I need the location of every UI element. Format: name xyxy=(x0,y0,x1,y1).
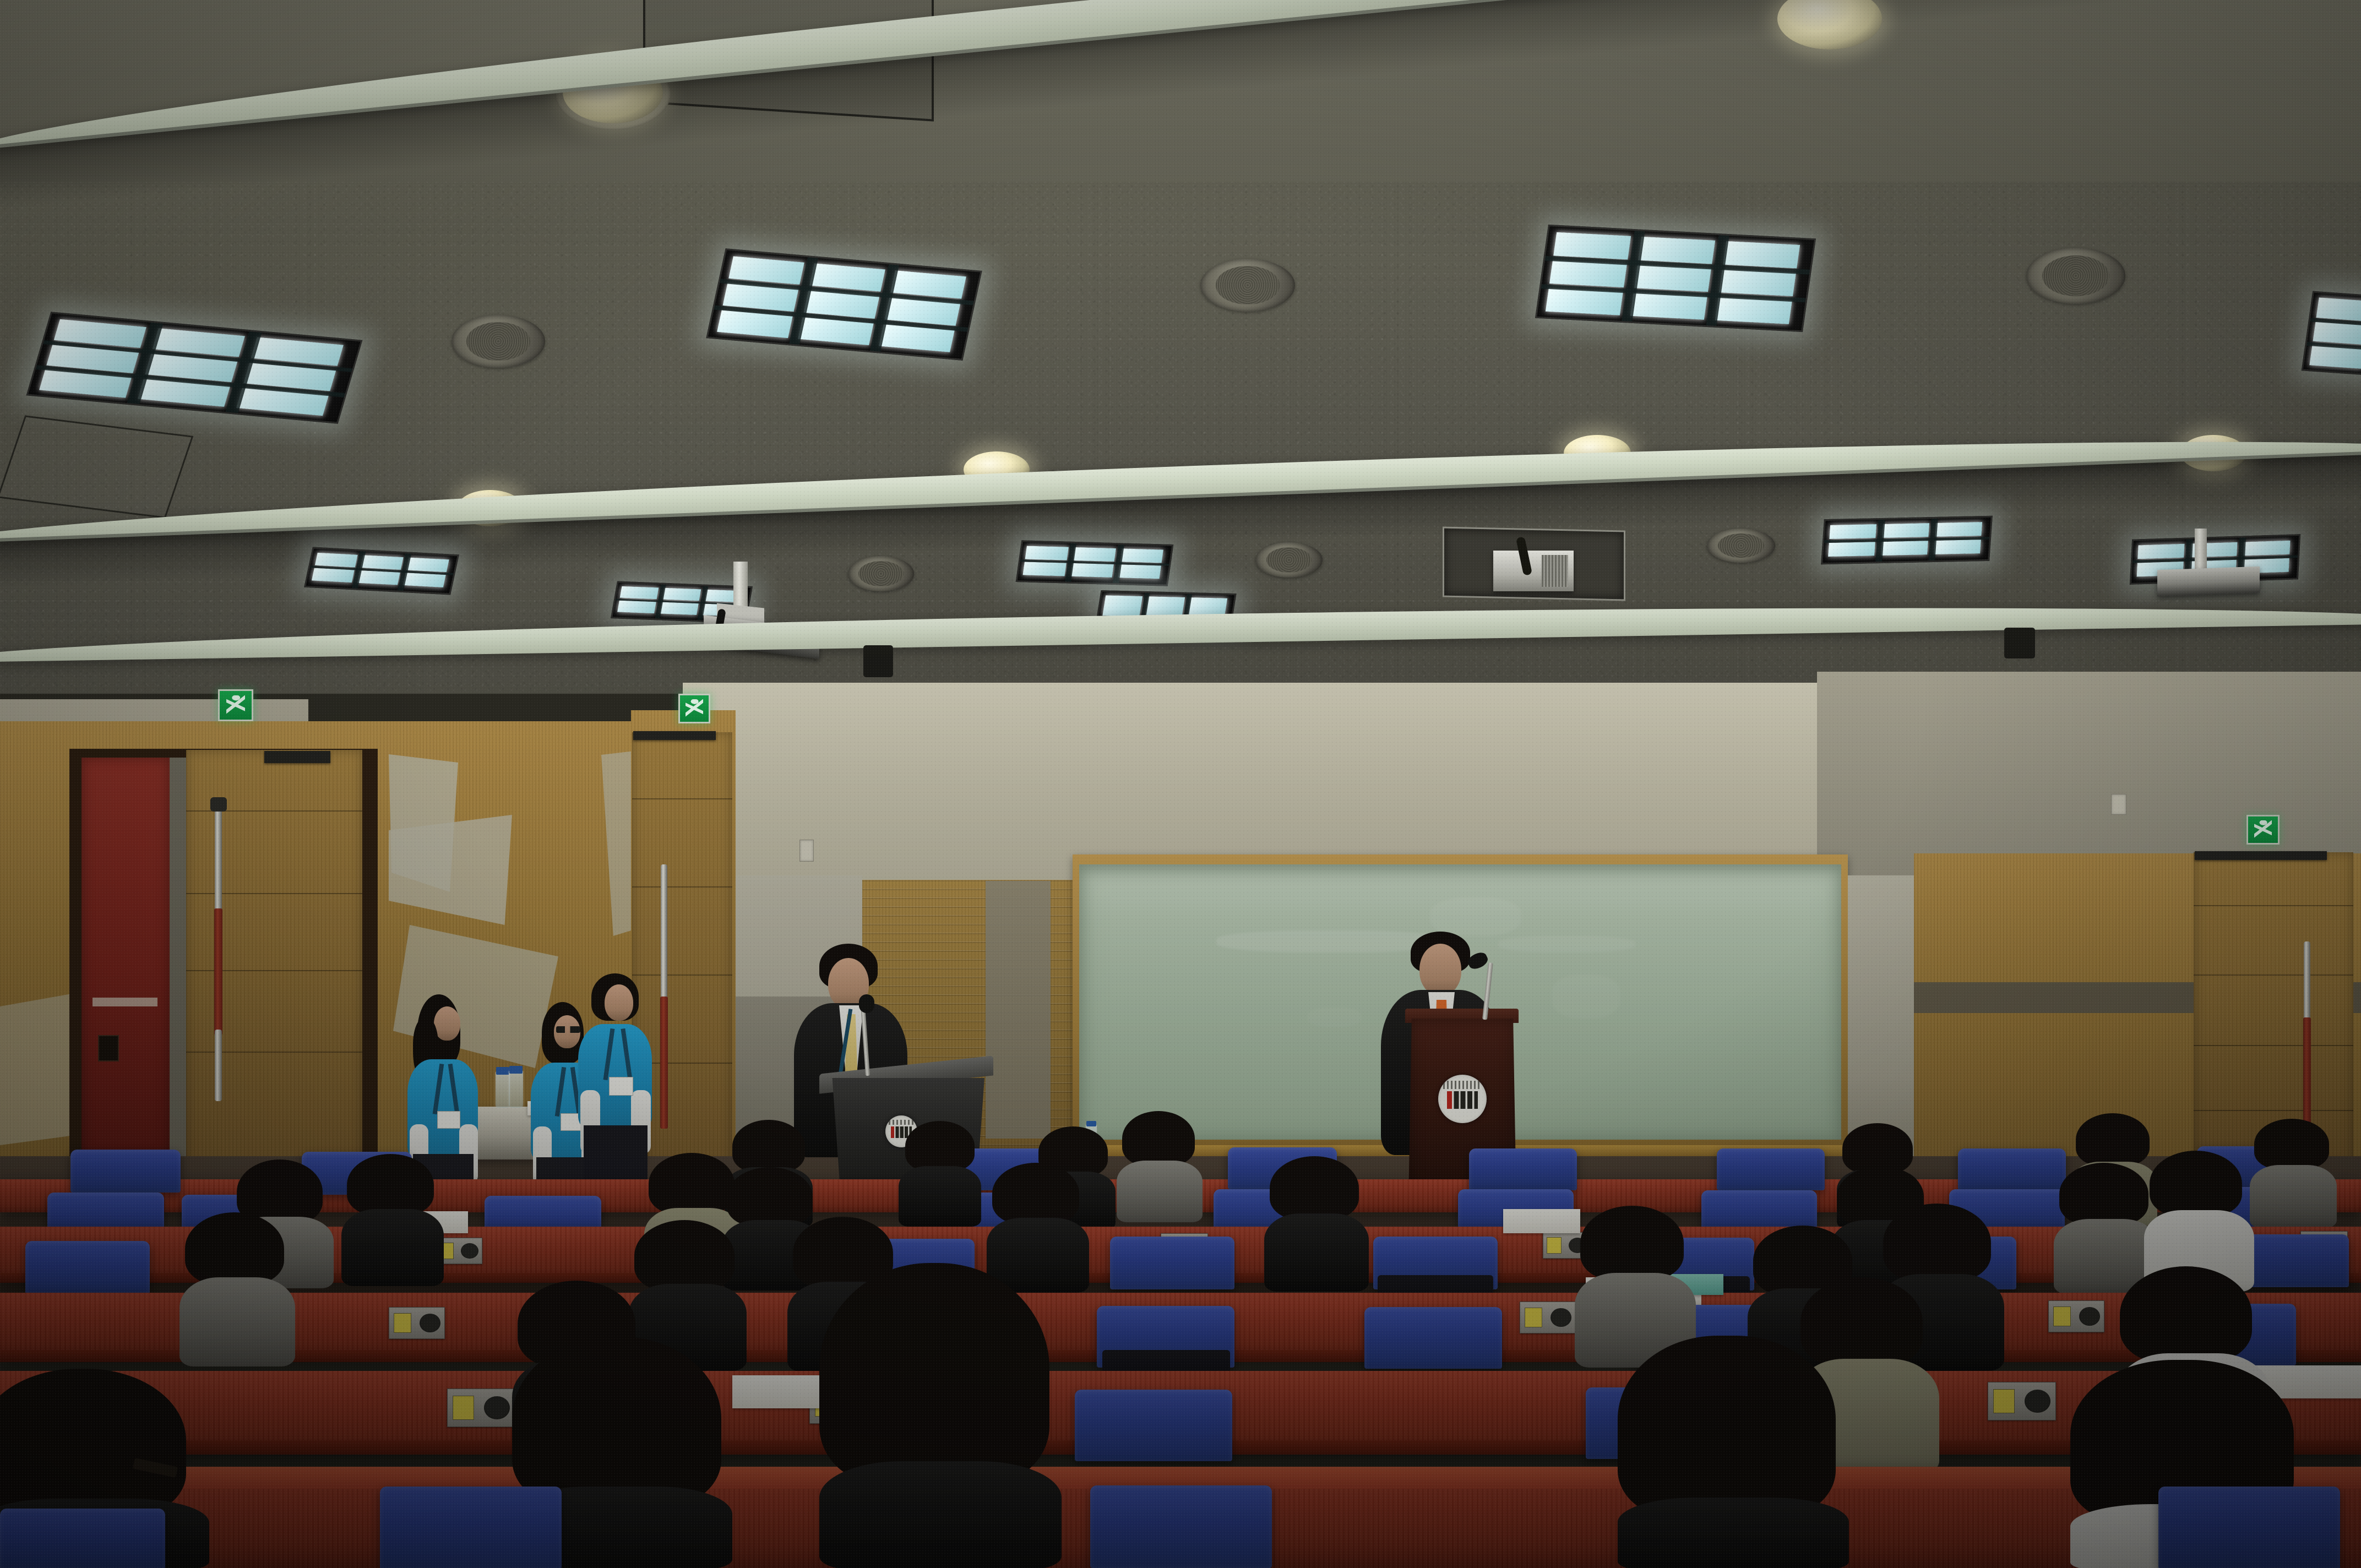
bottle-cap xyxy=(1086,1121,1096,1126)
ceiling-speaker-icon xyxy=(1707,529,1775,563)
power-outlet[interactable] xyxy=(1520,1302,1576,1333)
door-vision-slot xyxy=(98,1035,119,1061)
lecture-hall-photograph: University lecture hall — opening ceremo… xyxy=(0,0,2361,1568)
fluorescent-panel xyxy=(1821,516,1993,565)
ceiling-speaker-icon xyxy=(1200,259,1295,312)
name-badge xyxy=(609,1077,633,1096)
hair xyxy=(1122,1111,1195,1166)
outlet-socket xyxy=(484,1396,509,1419)
outlet-indicator-tag xyxy=(2053,1306,2071,1327)
suit xyxy=(1117,1161,1203,1222)
outlet-indicator-tag xyxy=(1525,1308,1542,1328)
projector-vent xyxy=(1542,555,1568,587)
audience-person xyxy=(899,1121,981,1226)
ceiling-speaker-icon xyxy=(1255,542,1323,578)
seat[interactable] xyxy=(1075,1390,1232,1461)
wall-outlet-plate-right[interactable] xyxy=(2111,794,2126,815)
fluorescent-panel xyxy=(304,547,459,595)
hair xyxy=(0,1369,186,1518)
audience-person xyxy=(1117,1111,1203,1221)
hair xyxy=(992,1163,1079,1224)
door-closer-arm xyxy=(2195,851,2327,860)
hair xyxy=(2254,1119,2329,1169)
exit-sign-left xyxy=(218,689,253,721)
exit-sign-right xyxy=(2246,815,2280,845)
suit xyxy=(819,1461,1062,1568)
hair xyxy=(1618,1336,1836,1517)
podium-emblem xyxy=(1438,1075,1487,1123)
seat[interactable] xyxy=(1110,1237,1234,1289)
door-handle-knob-left xyxy=(210,797,227,812)
audience-person xyxy=(2250,1119,2337,1228)
door-closer-arm xyxy=(264,751,330,763)
seat[interactable] xyxy=(70,1150,181,1193)
emblem-bars xyxy=(1447,1091,1478,1109)
hair xyxy=(512,1337,721,1507)
face xyxy=(605,984,633,1021)
suit xyxy=(341,1209,444,1286)
door-handle-grip-center-left[interactable] xyxy=(660,997,668,1129)
door-red-panel[interactable] xyxy=(81,758,170,1159)
door-handle-right[interactable] xyxy=(2304,941,2310,1024)
audience-person-foreground xyxy=(1618,1336,1849,1568)
outlet-indicator-tag xyxy=(1993,1389,2015,1413)
emblem-wordmark xyxy=(1443,1081,1482,1088)
suit xyxy=(1264,1213,1369,1292)
suit xyxy=(179,1277,295,1366)
hair xyxy=(1270,1156,1359,1220)
ceiling-speaker-icon xyxy=(451,315,545,368)
bottle-cap xyxy=(509,1066,523,1074)
hair xyxy=(1883,1204,1991,1282)
power-outlet[interactable] xyxy=(2048,1300,2104,1332)
fluorescent-panel xyxy=(1016,540,1174,586)
bottle-cap xyxy=(496,1067,509,1075)
fluorescent-panel xyxy=(1535,225,1816,332)
suit xyxy=(1618,1498,1849,1568)
seat[interactable] xyxy=(1364,1307,1502,1369)
hair xyxy=(2076,1113,2150,1166)
door-left[interactable] xyxy=(186,750,362,1168)
ceiling-speaker-icon xyxy=(2026,248,2125,304)
microphone-head-moderator xyxy=(859,994,874,1013)
seat-foreground[interactable] xyxy=(0,1509,165,1568)
audience-person-foreground xyxy=(819,1263,1062,1568)
hair xyxy=(2120,1266,2252,1363)
face xyxy=(1419,944,1461,995)
hair xyxy=(2059,1163,2148,1226)
face xyxy=(434,1006,460,1041)
hair xyxy=(185,1212,284,1285)
door-handle-left[interactable] xyxy=(215,805,222,915)
outlet-indicator-tag xyxy=(394,1313,411,1333)
acoustic-panel-stage xyxy=(986,881,1051,1139)
outlet-socket xyxy=(1551,1308,1571,1327)
seat[interactable] xyxy=(1958,1148,2066,1190)
seat[interactable] xyxy=(1469,1148,1577,1190)
audience-person xyxy=(179,1212,295,1364)
audience-person xyxy=(1264,1156,1369,1291)
outlet-socket xyxy=(2079,1307,2100,1326)
hair xyxy=(905,1121,975,1172)
outlet-indicator-tag xyxy=(1547,1237,1562,1254)
water-bottle xyxy=(496,1071,510,1108)
hair xyxy=(649,1153,735,1215)
door-handle-left-lower[interactable] xyxy=(215,1030,222,1101)
door-closer-arm xyxy=(633,731,716,740)
projector-mount-pole xyxy=(2195,529,2207,573)
door-gap-shadow xyxy=(170,758,186,1159)
door-right[interactable] xyxy=(2194,852,2353,1165)
outlet-socket xyxy=(420,1314,440,1333)
door-handle-grip-right[interactable] xyxy=(2303,1017,2311,1125)
name-badge xyxy=(437,1111,460,1129)
seat-foreground[interactable] xyxy=(1090,1485,1272,1568)
water-bottle xyxy=(509,1070,523,1108)
door-kick-plate xyxy=(93,998,157,1006)
acoustic-panel-right xyxy=(1848,875,1914,1162)
seat[interactable] xyxy=(1717,1148,1825,1190)
papers-on-desk xyxy=(1503,1209,1580,1233)
seat-foreground[interactable] xyxy=(380,1487,562,1568)
outlet-socket xyxy=(2025,1390,2050,1413)
staff-member-3 xyxy=(576,973,653,1194)
door-handle-center-left[interactable] xyxy=(661,864,667,1002)
power-outlet[interactable] xyxy=(1988,1382,2056,1420)
exit-running-figure-icon xyxy=(226,695,246,715)
door-handle-grip-left[interactable] xyxy=(214,908,222,1035)
exit-running-figure-icon xyxy=(2254,820,2272,839)
hair xyxy=(819,1263,1049,1483)
hair xyxy=(2150,1151,2242,1217)
hair xyxy=(347,1154,434,1216)
power-outlet[interactable] xyxy=(447,1389,515,1427)
suit xyxy=(2250,1165,2337,1228)
outlet-socket xyxy=(461,1243,478,1259)
seat-foreground[interactable] xyxy=(2158,1487,2340,1568)
power-outlet[interactable] xyxy=(389,1307,445,1339)
seat[interactable] xyxy=(25,1241,150,1294)
exit-sign-center xyxy=(678,694,710,723)
ceiling xyxy=(0,0,2361,694)
suit xyxy=(899,1166,981,1227)
hair xyxy=(1580,1206,1684,1281)
ceiling-speaker-icon xyxy=(848,556,914,591)
wall-outlet-plate[interactable] xyxy=(799,840,814,862)
projector-icon xyxy=(2157,567,2260,596)
fluorescent-panel xyxy=(2302,291,2361,384)
audience-person xyxy=(341,1154,444,1286)
exit-running-figure-icon xyxy=(686,699,703,718)
outlet-indicator-tag xyxy=(453,1396,474,1420)
